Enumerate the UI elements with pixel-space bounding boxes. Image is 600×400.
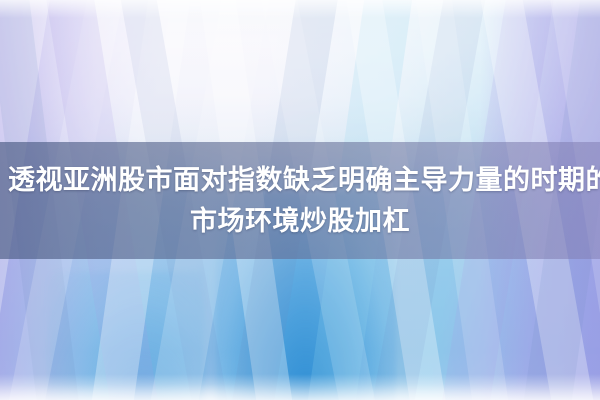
page-title: 透视亚洲股市面对指数缺乏明确主导力量的时期的 市场环境炒股加杠 bbox=[0, 160, 600, 242]
banner-graphic: 透视亚洲股市面对指数缺乏明确主导力量的时期的 市场环境炒股加杠 bbox=[0, 0, 600, 400]
top-light-fade bbox=[0, 0, 600, 18]
title-line-2: 市场环境炒股加杠 bbox=[8, 201, 592, 242]
bottom-light-fade bbox=[0, 374, 600, 400]
title-line-1: 透视亚洲股市面对指数缺乏明确主导力量的时期的 bbox=[8, 160, 592, 201]
title-overlay-band: 透视亚洲股市面对指数缺乏明确主导力量的时期的 市场环境炒股加杠 bbox=[0, 142, 600, 259]
